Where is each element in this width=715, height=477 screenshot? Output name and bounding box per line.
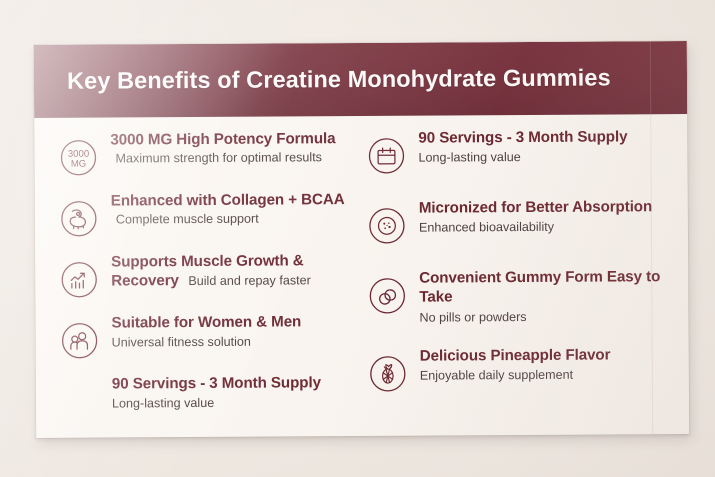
- pineapple-icon: [366, 352, 410, 396]
- 3000-mg-badge-icon: 3000 MG: [56, 136, 100, 180]
- benefit-text: 90 Servings - 3 Month Supply Long-lastin…: [112, 372, 360, 412]
- benefit-text: Micronized for Better Absorption Enhance…: [419, 196, 688, 236]
- people-icon: [57, 319, 101, 363]
- benefit-description: Long-lasting value: [112, 394, 360, 412]
- benefit-item: 3000 MG 3000 MG High Potency Formula Max…: [56, 128, 358, 180]
- growth-chart-icon: [57, 258, 101, 302]
- benefits-card: Key Benefits of Creatine Monohydrate Gum…: [34, 41, 689, 438]
- benefit-title: Delicious Pineapple Flavor: [420, 346, 611, 364]
- right-benefits-column: 90 Servings - 3 Month Supply Long-lastin…: [358, 126, 689, 436]
- benefit-title: 3000 MG High Potency Formula: [110, 130, 335, 148]
- benefit-item: Delicious Pineapple Flavor Enjoyable dai…: [366, 344, 689, 396]
- benefit-item: 90 Servings - 3 Month Supply Long-lastin…: [364, 126, 687, 178]
- benefit-item: Suitable for Women & Men Universal fitne…: [57, 311, 359, 363]
- benefit-description: Complete muscle support: [116, 212, 259, 227]
- badge-bottom-text: MG: [71, 159, 87, 170]
- benefit-item: Enhanced with Collagen + BCAA Complete m…: [57, 189, 359, 241]
- benefit-title: 90 Servings - 3 Month Supply: [418, 128, 627, 146]
- benefit-description: Maximum strength for optimal results: [115, 151, 322, 166]
- benefit-description: Enjoyable daily supplement: [420, 366, 689, 384]
- benefit-description: Build and repay faster: [188, 274, 311, 289]
- benefit-title: Suitable for Women & Men: [111, 313, 301, 331]
- benefit-text: Suitable for Women & Men Universal fitne…: [111, 311, 359, 351]
- benefit-description: Enhanced bioavailability: [419, 218, 688, 236]
- benefit-text: Convenient Gummy Form Easy to Take No pi…: [419, 266, 688, 326]
- infographic-canvas: Key Benefits of Creatine Monohydrate Gum…: [0, 0, 715, 477]
- benefit-description: Long-lasting value: [418, 148, 687, 166]
- benefit-description: No pills or powders: [419, 308, 688, 326]
- benefit-item: 90 Servings - 3 Month Supply Long-lastin…: [58, 372, 360, 424]
- benefit-text: Supports Muscle Growth & Recovery Build …: [111, 250, 359, 291]
- benefit-title: 90 Servings - 3 Month Supply: [112, 374, 321, 392]
- gummy-pieces-icon: [365, 274, 409, 318]
- benefit-title: Convenient Gummy Form Easy to Take: [419, 268, 660, 306]
- benefit-text: 90 Servings - 3 Month Supply Long-lastin…: [418, 126, 687, 166]
- benefit-description: Universal fitness solution: [112, 333, 360, 351]
- benefit-item: Convenient Gummy Form Easy to Take No pi…: [365, 266, 688, 326]
- benefit-text: Enhanced with Collagen + BCAA Complete m…: [111, 189, 359, 229]
- benefit-text: Delicious Pineapple Flavor Enjoyable dai…: [420, 344, 689, 384]
- micronized-particles-icon: [365, 204, 409, 248]
- benefit-title: Enhanced with Collagen + BCAA: [111, 191, 345, 209]
- benefit-title: Micronized for Better Absorption: [419, 198, 652, 216]
- flexed-bicep-icon: [57, 197, 101, 241]
- card-header-band: Key Benefits of Creatine Monohydrate Gum…: [34, 41, 687, 118]
- benefit-item: Micronized for Better Absorption Enhance…: [365, 196, 688, 248]
- page-title: Key Benefits of Creatine Monohydrate Gum…: [34, 66, 611, 93]
- calendar-icon: [364, 134, 408, 178]
- benefit-text: 3000 MG High Potency Formula Maximum str…: [110, 128, 358, 168]
- left-benefits-column: 3000 MG 3000 MG High Potency Formula Max…: [34, 128, 360, 438]
- benefits-body: 3000 MG 3000 MG High Potency Formula Max…: [34, 114, 689, 438]
- benefit-item: Supports Muscle Growth & Recovery Build …: [57, 250, 359, 302]
